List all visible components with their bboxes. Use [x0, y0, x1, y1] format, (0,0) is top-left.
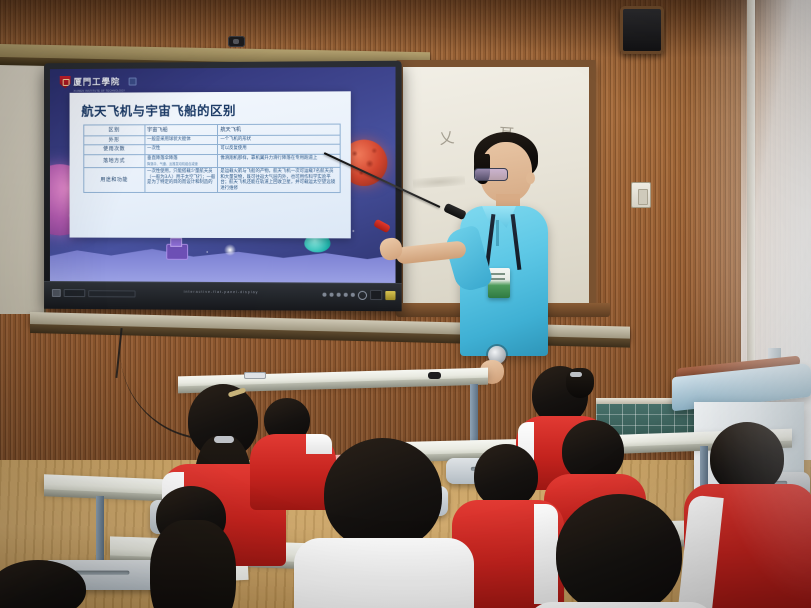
school-logo: 厦門工學院 XIAMEN INSTITUTE OF TECHNOLOGY — [60, 74, 136, 90]
table-cell-spacecraft: 一次性 — [145, 145, 218, 154]
uniform-stripe — [306, 434, 332, 454]
chair-handle-slot — [74, 570, 129, 575]
glasses-icon — [474, 168, 508, 181]
display-brand-label: interactive-flat-panel-display — [184, 290, 259, 294]
display-controls[interactable] — [322, 290, 395, 301]
table-cell-spacecraft: 一般是采用球状大舱体 — [145, 136, 218, 145]
desk-leg — [470, 384, 478, 444]
port-icon[interactable] — [88, 290, 135, 297]
ir-receiver-icon — [370, 290, 382, 300]
table-cell-shuttle: 可以反复使用 — [218, 144, 340, 154]
sensor-icon — [228, 36, 245, 47]
control-button-icon[interactable] — [337, 293, 341, 297]
student-head — [324, 438, 442, 550]
hair-tie — [570, 372, 582, 377]
table-cell-shuttle: 是运载火箭与飞船的产物，航天飞机一次可运载7名航天员和大量货物，既可往返大气层内… — [218, 167, 340, 192]
light-flare — [224, 244, 236, 256]
control-button-icon[interactable] — [330, 293, 334, 297]
cell-sub-text: 降落伞、气囊、反推发动机组合减速 — [147, 162, 215, 166]
school-name-cn: 厦門工學院 — [73, 77, 120, 87]
table-cell-spacecraft: 垂直降落伞降落 降落伞、气囊、反推发动机组合减速 — [145, 154, 218, 168]
student-head — [562, 420, 624, 482]
table-row-label: 落地方式 — [84, 154, 145, 168]
port-icon[interactable] — [52, 289, 61, 297]
student-body — [294, 538, 474, 608]
warning-label-icon — [385, 290, 395, 299]
hair-tie — [214, 436, 234, 443]
table-row-label: 用途和功能 — [84, 168, 145, 193]
badge-line — [491, 278, 505, 280]
badge-line — [491, 273, 505, 275]
instructor-ear — [526, 172, 535, 184]
comparison-table: 区别 宇宙飞船 航天飞机 外形 一般是采用球状大舱体 一个飞机的形状 使用次数 … — [83, 124, 340, 193]
classroom-scene: 乂 耳 厦門工學院 XIAMEN INSTITUTE OF TECHNOLOGY — [0, 0, 811, 608]
table-header-cell: 航天飞机 — [218, 124, 340, 135]
student-hair — [150, 520, 236, 608]
student-head — [474, 444, 538, 508]
uniform-stripe — [534, 504, 558, 604]
table-row: 使用次数 一次性 可以反复使用 — [84, 144, 340, 154]
table-row: 落地方式 垂直降落伞降落 降落伞、气囊、反推发动机组合减速 像滑翔机那样，靠机翼… — [84, 154, 340, 168]
student-head — [556, 494, 682, 608]
desk-object — [428, 372, 441, 379]
table-row-label: 外形 — [84, 136, 145, 145]
rover-icon — [166, 244, 188, 260]
table-header-cell: 区别 — [84, 125, 145, 136]
port-icon[interactable] — [64, 289, 86, 297]
power-button-icon[interactable] — [358, 290, 367, 299]
table-header-cell: 宇宙飞船 — [145, 125, 218, 136]
cell-main-text: 垂直降落伞降落 — [147, 156, 177, 161]
desk-object — [244, 372, 266, 379]
table-cell-shuttle: 像滑翔机那样，靠机翼升力滑行降落在专用跑道上 — [218, 154, 340, 168]
crest-icon — [60, 75, 71, 88]
logo-badge-icon — [128, 78, 136, 86]
instructor-placket — [496, 220, 499, 246]
control-button-icon[interactable] — [351, 293, 355, 297]
table-row-label: 使用次数 — [84, 145, 145, 154]
student-body — [526, 602, 716, 608]
table-row: 用途和功能 一次性使用，只能搭载少量航天员（一般为3人）用于太空飞行；一般是为了… — [84, 167, 340, 192]
id-badge — [488, 268, 510, 298]
display-ports[interactable] — [52, 289, 136, 297]
speaker-icon — [620, 6, 664, 54]
control-button-icon[interactable] — [322, 293, 326, 297]
slide-title: 航天飞机与宇宙飞船的区别 — [81, 100, 236, 120]
light-switch[interactable] — [631, 182, 651, 208]
display-screen[interactable]: 厦門工學院 XIAMEN INSTITUTE OF TECHNOLOGY 航天飞… — [50, 67, 396, 283]
control-button-icon[interactable] — [344, 293, 348, 297]
slide-content: 航天飞机与宇宙飞船的区别 区别 宇宙飞船 航天飞机 外形 一般是采用球状大舱体 … — [70, 91, 351, 238]
table-header-row: 区别 宇宙飞船 航天飞机 — [84, 124, 340, 136]
left-wall-panel — [0, 56, 46, 314]
table-cell-shuttle: 一个飞机的形状 — [218, 135, 340, 145]
interactive-display[interactable]: 厦門工學院 XIAMEN INSTITUTE OF TECHNOLOGY 航天飞… — [44, 61, 402, 312]
display-bezel: interactive-flat-panel-display — [44, 281, 402, 311]
table-cell-spacecraft: 一次性使用，只能搭载少量航天员（一般为3人）用于太空飞行；一般是为了特定的目的而… — [145, 168, 218, 193]
